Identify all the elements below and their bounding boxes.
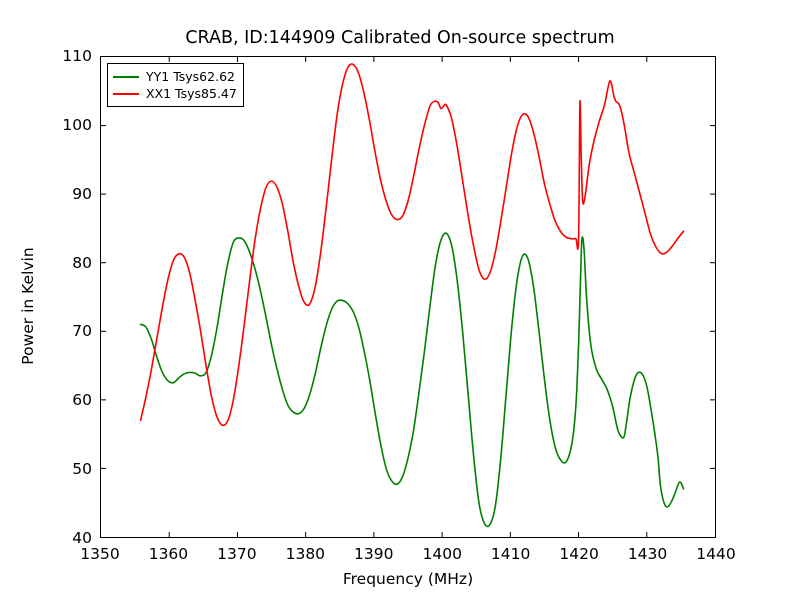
y-axis-label: Power in Kelvin <box>19 226 37 386</box>
y-tick-label: 110 <box>48 47 92 65</box>
plot-axes <box>100 56 716 538</box>
legend-swatch-xx1 <box>113 93 139 95</box>
x-tick-label: 1350 <box>65 545 135 563</box>
x-tick-label: 1420 <box>544 545 614 563</box>
x-tick-label: 1410 <box>476 545 546 563</box>
x-tick-label: 1440 <box>681 545 751 563</box>
figure-canvas: CRAB, ID:144909 Calibrated On-source spe… <box>0 0 800 600</box>
y-axis-tick-labels: 405060708090100110 <box>44 0 92 600</box>
y-tick-label: 80 <box>48 254 92 272</box>
y-tick-label: 100 <box>48 116 92 134</box>
legend-label-yy1: YY1 Tsys62.62 <box>146 69 235 84</box>
legend-item: XX1 Tsys85.47 <box>113 85 237 102</box>
x-tick-label: 1430 <box>613 545 683 563</box>
series-line <box>141 64 684 425</box>
legend-swatch-yy1 <box>113 76 139 78</box>
spectrum-plot <box>101 57 715 537</box>
legend-label-xx1: XX1 Tsys85.47 <box>146 86 237 101</box>
legend: YY1 Tsys62.62 XX1 Tsys85.47 <box>107 63 244 107</box>
legend-item: YY1 Tsys62.62 <box>113 68 237 85</box>
y-tick-label: 70 <box>48 322 92 340</box>
x-tick-label: 1360 <box>133 545 203 563</box>
series-line <box>141 233 684 526</box>
x-tick-label: 1380 <box>270 545 340 563</box>
x-tick-label: 1370 <box>202 545 272 563</box>
x-tick-label: 1390 <box>339 545 409 563</box>
x-axis-tick-labels: 1350136013701380139014001410142014301440 <box>0 545 800 569</box>
page-title: CRAB, ID:144909 Calibrated On-source spe… <box>0 28 800 48</box>
y-tick-label: 50 <box>48 460 92 478</box>
y-tick-label: 90 <box>48 185 92 203</box>
x-tick-label: 1400 <box>407 545 477 563</box>
y-tick-label: 60 <box>48 391 92 409</box>
x-axis-label: Frequency (MHz) <box>100 570 716 588</box>
